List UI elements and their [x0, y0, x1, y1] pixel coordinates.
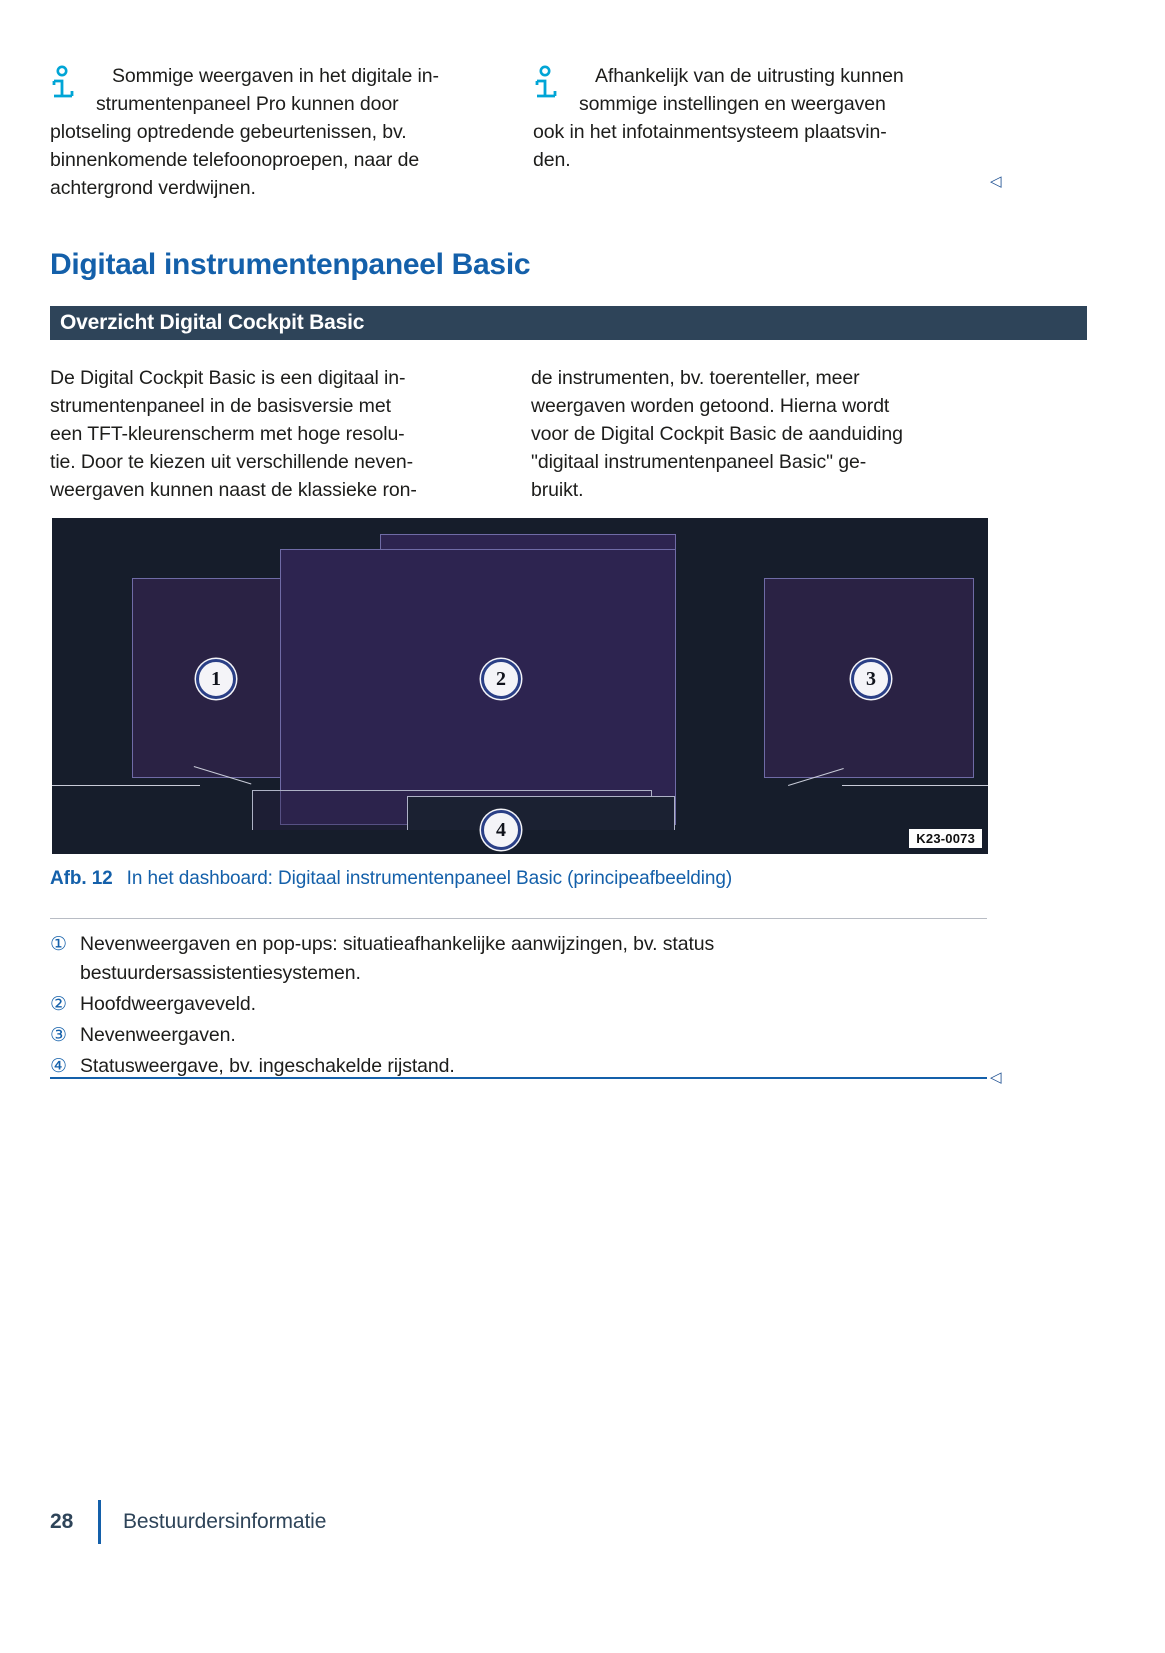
callout-marker-1: 1 [196, 659, 236, 699]
body-line: weergaven worden getoond. Hierna wordt [531, 395, 889, 417]
body-line: "digitaal instrumentenpaneel Basic" ge- [531, 451, 866, 473]
figure-id-watermark: K23-0073 [909, 829, 982, 848]
body-column-right: de instrumenten, bv. toerenteller, meer … [531, 364, 986, 504]
dashboard-contour-left [52, 785, 200, 786]
body-line: bruikt. [531, 479, 583, 501]
body-column-left: De Digital Cockpit Basic is een digitaal… [50, 364, 505, 504]
legend-text-1: Nevenweergaven en pop-ups: situatieafhan… [80, 930, 990, 988]
footer-section-label: Bestuurdersinformatie [123, 1510, 326, 1534]
legend-text-3: Nevenweergaven. [80, 1021, 236, 1050]
callout-marker-3: 3 [851, 659, 891, 699]
status-bar-zone-inner [407, 796, 675, 830]
figure-caption: Afb. 12In het dashboard: Digitaal instru… [50, 868, 732, 890]
note-block-2: Afhankelijk van de uitrusting kunnensomm… [533, 62, 988, 202]
note-end-marker: ◁ [990, 174, 1002, 189]
note-line-3: ook in het infotainmentsysteem plaatsvin… [533, 121, 887, 143]
section-heading-label: Overzicht Digital Cockpit Basic [50, 311, 364, 335]
legend-top-rule [50, 918, 987, 919]
legend-number-3: ③ [50, 1021, 80, 1050]
body-columns: De Digital Cockpit Basic is een digitaal… [50, 364, 1087, 504]
body-line: voor de Digital Cockpit Basic de aanduid… [531, 423, 903, 445]
legend-bottom-rule [50, 1077, 987, 1079]
footer-page-number: 28 [50, 1510, 98, 1534]
callout-marker-4: 4 [481, 810, 521, 850]
section-heading-bar: Overzicht Digital Cockpit Basic [50, 306, 1087, 340]
info-icon [50, 65, 78, 105]
body-line: De Digital Cockpit Basic is een digitaal… [50, 367, 405, 389]
figure-caption-text: In het dashboard: Digitaal instrumentenp… [127, 868, 732, 889]
note-text-2: Afhankelijk van de uitrusting kunnensomm… [533, 62, 988, 174]
legend-number-2: ② [50, 990, 80, 1019]
note-line-4: binnenkomende telefoonoproepen, naar de [50, 149, 419, 171]
list-item: ① Nevenweergaven en pop-ups: situatieafh… [50, 930, 990, 988]
body-line: de instrumenten, bv. toerenteller, meer [531, 367, 860, 389]
footer-divider [98, 1500, 101, 1544]
body-line: weergaven kunnen naast de klassieke ron- [50, 479, 417, 501]
figure-illustration: 1 2 3 4 K23-0073 [52, 518, 988, 854]
display-zone-center [280, 549, 676, 825]
legend-end-marker: ◁ [990, 1070, 1002, 1085]
note-line-5: achtergrond verdwijnen. [50, 177, 256, 199]
callout-marker-2: 2 [481, 659, 521, 699]
legend-text-2: Hoofdweergaveveld. [80, 990, 256, 1019]
figure-legend-list: ① Nevenweergaven en pop-ups: situatieafh… [50, 930, 990, 1083]
figure-caption-label: Afb. 12 [50, 868, 113, 889]
page-title: Digitaal instrumentenpaneel Basic [50, 248, 530, 282]
note-line-2: sommige instellingen en weergaven [579, 93, 886, 115]
figure-image: 1 2 3 4 K23-0073 [52, 518, 988, 854]
list-item: ③ Nevenweergaven. [50, 1021, 990, 1050]
note-line-2: strumentenpaneel Pro kunnen door [96, 93, 399, 115]
note-line-1: Sommige weergaven in het digitale in- [112, 65, 439, 87]
dashboard-contour-right [842, 785, 988, 786]
notes-row: Sommige weergaven in het digitale in-str… [50, 62, 1115, 202]
note-text-1: Sommige weergaven in het digitale in-str… [50, 62, 505, 202]
info-icon [533, 65, 561, 105]
body-line: tie. Door te kiezen uit verschillende ne… [50, 451, 413, 473]
page-footer: 28 Bestuurdersinformatie [50, 1498, 1087, 1546]
list-item: ② Hoofdweergaveveld. [50, 990, 990, 1019]
note-line-3: plotseling optredende gebeurtenissen, bv… [50, 121, 407, 143]
note-line-4: den. [533, 149, 571, 171]
body-line: een TFT-kleurenscherm met hoge resolu- [50, 423, 405, 445]
note-block-1: Sommige weergaven in het digitale in-str… [50, 62, 505, 202]
note-line-1: Afhankelijk van de uitrusting kunnen [595, 65, 904, 87]
body-line: strumentenpaneel in de basisversie met [50, 395, 391, 417]
legend-number-1: ① [50, 930, 80, 959]
document-page: Sommige weergaven in het digitale in-str… [0, 0, 1165, 1653]
